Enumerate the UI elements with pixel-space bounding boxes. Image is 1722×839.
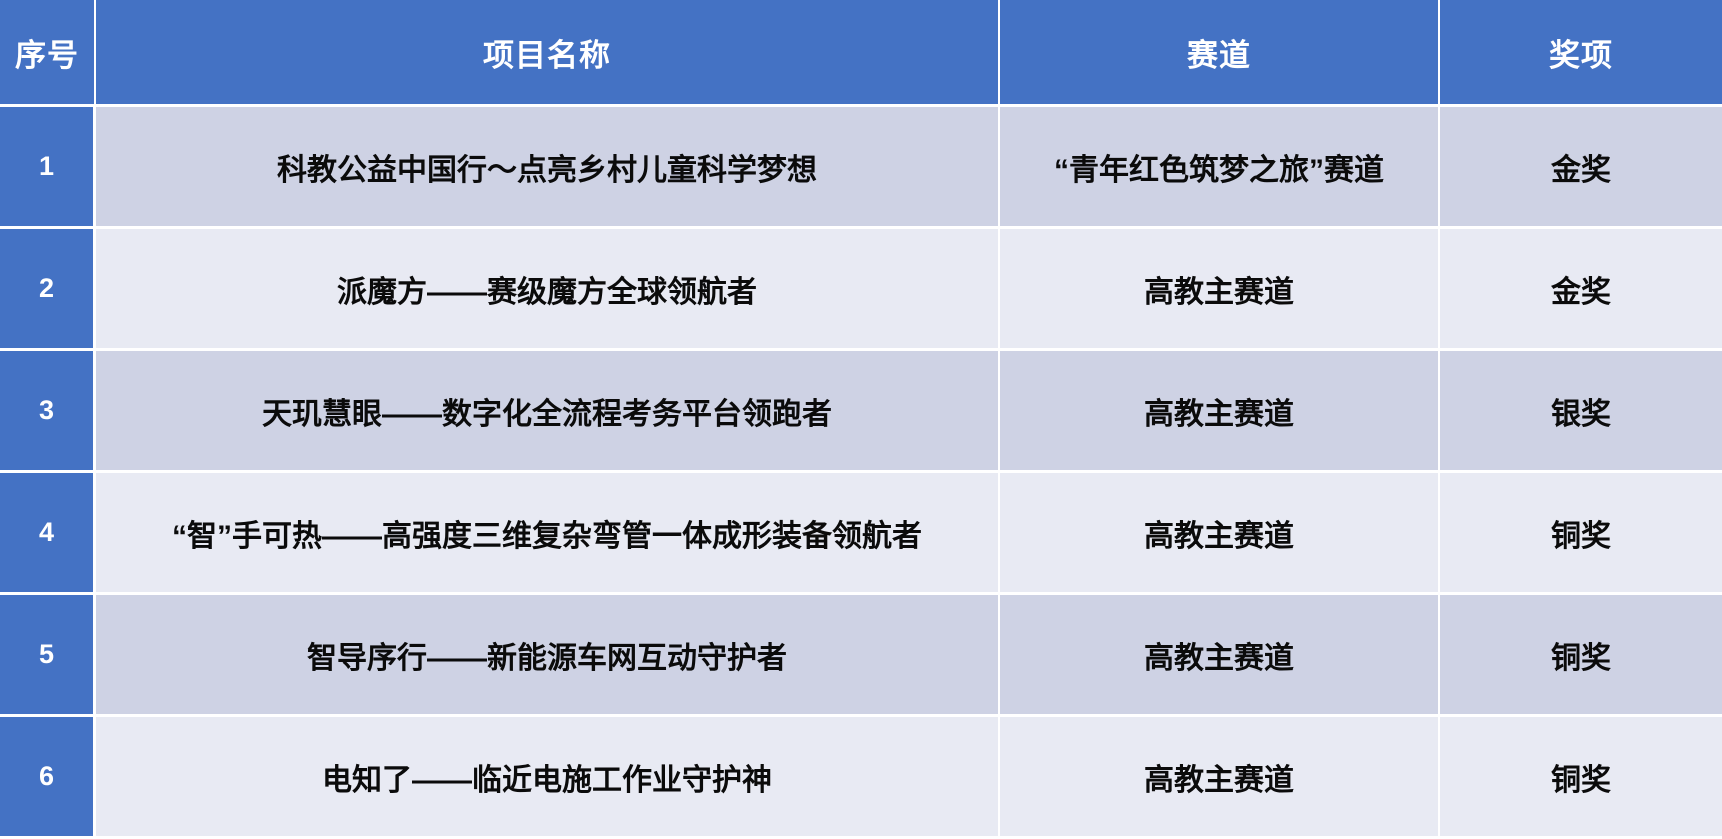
row-track: 高教主赛道 [1000, 229, 1440, 351]
row-award: 铜奖 [1440, 595, 1722, 717]
table-body: 1 科教公益中国行～点亮乡村儿童科学梦想 “青年红色筑梦之旅”赛道 金奖 2 派… [0, 107, 1722, 839]
row-project-name: 智导序行——新能源车网互动守护者 [96, 595, 1000, 717]
table-row: 2 派魔方——赛级魔方全球领航者 高教主赛道 金奖 [0, 229, 1722, 351]
row-track: 高教主赛道 [1000, 717, 1440, 839]
row-award: 铜奖 [1440, 473, 1722, 595]
row-index-cell: 6 [0, 717, 96, 839]
row-project-name: 天玑慧眼——数字化全流程考务平台领跑者 [96, 351, 1000, 473]
table-header: 序号 项目名称 赛道 奖项 [0, 0, 1722, 107]
row-project-name: 派魔方——赛级魔方全球领航者 [96, 229, 1000, 351]
table-row: 3 天玑慧眼——数字化全流程考务平台领跑者 高教主赛道 银奖 [0, 351, 1722, 473]
row-track: “青年红色筑梦之旅”赛道 [1000, 107, 1440, 229]
row-project-name: “智”手可热——高强度三维复杂弯管一体成形装备领航者 [96, 473, 1000, 595]
row-index-cell: 2 [0, 229, 96, 351]
table-header-row: 序号 项目名称 赛道 奖项 [0, 0, 1722, 107]
row-track: 高教主赛道 [1000, 473, 1440, 595]
column-header-index: 序号 [0, 0, 96, 107]
table-row: 6 电知了——临近电施工作业守护神 高教主赛道 铜奖 [0, 717, 1722, 839]
row-index-cell: 1 [0, 107, 96, 229]
table-row: 5 智导序行——新能源车网互动守护者 高教主赛道 铜奖 [0, 595, 1722, 717]
table-row: 4 “智”手可热——高强度三维复杂弯管一体成形装备领航者 高教主赛道 铜奖 [0, 473, 1722, 595]
row-index-cell: 4 [0, 473, 96, 595]
row-project-name: 电知了——临近电施工作业守护神 [96, 717, 1000, 839]
row-award: 金奖 [1440, 107, 1722, 229]
column-header-project-name: 项目名称 [96, 0, 1000, 107]
column-header-track: 赛道 [1000, 0, 1440, 107]
column-header-award: 奖项 [1440, 0, 1722, 107]
row-index-cell: 3 [0, 351, 96, 473]
row-project-name: 科教公益中国行～点亮乡村儿童科学梦想 [96, 107, 1000, 229]
row-track: 高教主赛道 [1000, 351, 1440, 473]
row-award: 金奖 [1440, 229, 1722, 351]
row-index-cell: 5 [0, 595, 96, 717]
row-award: 铜奖 [1440, 717, 1722, 839]
row-track: 高教主赛道 [1000, 595, 1440, 717]
row-award: 银奖 [1440, 351, 1722, 473]
award-results-table: 序号 项目名称 赛道 奖项 1 科教公益中国行～点亮乡村儿童科学梦想 “青年红色… [0, 0, 1722, 839]
table-row: 1 科教公益中国行～点亮乡村儿童科学梦想 “青年红色筑梦之旅”赛道 金奖 [0, 107, 1722, 229]
